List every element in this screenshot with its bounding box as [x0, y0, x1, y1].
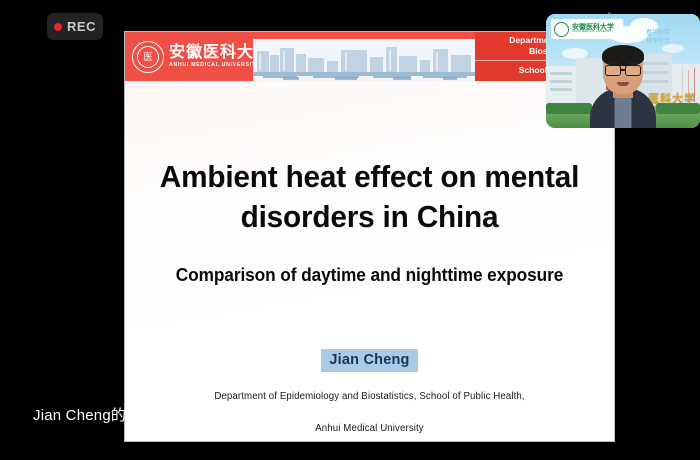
participant-name-overlay: Jian Cheng的: [33, 404, 126, 425]
author-name: Jian Cheng: [321, 349, 417, 372]
recording-label: REC: [67, 20, 96, 33]
seal-character: 医: [137, 46, 159, 68]
recording-badge[interactable]: REC: [47, 13, 103, 40]
building-window: [550, 72, 572, 75]
background-seal-icon: [554, 22, 569, 37]
presenter-video-tile[interactable]: 安徽医科大学 ANHUI MEDICAL UNIVERSITY 春华秋实 桃李芬…: [546, 14, 700, 128]
presenter-head: [603, 45, 643, 94]
slide-subtitle: Comparison of daytime and nighttime expo…: [135, 265, 604, 286]
building-window: [550, 80, 572, 83]
glasses-icon: [605, 65, 621, 76]
university-seal-icon: 医: [132, 41, 164, 73]
slide-title-line-2: disorders in China: [135, 197, 604, 237]
slide-banner: 医 安徽医科大学 ANHUI MEDICAL UNIVERSITY: [125, 32, 614, 81]
presenter-figure: [590, 42, 656, 128]
skyline-illustration: [253, 41, 475, 81]
building-window: [550, 88, 572, 91]
presenter-eyebrow: [627, 62, 638, 64]
affiliation-line-2: Anhui Medical University: [132, 423, 606, 434]
participant-name-suffix: 的: [111, 406, 126, 424]
presenter-mouth: [617, 82, 629, 86]
background-university-logo: 安徽医科大学 ANHUI MEDICAL UNIVERSITY: [551, 19, 623, 39]
university-brand-block: 医 安徽医科大学 ANHUI MEDICAL UNIVERSITY: [125, 32, 253, 81]
zoom-meeting-screen: REC 医 安徽医科大学 ANHUI MEDICAL UNIVERSITY: [0, 0, 700, 460]
slide-body: Ambient heat effect on mental disorders …: [125, 81, 614, 441]
background-logo-en: ANHUI MEDICAL UNIVERSITY: [572, 31, 614, 34]
background-logo-text: 安徽医科大学 ANHUI MEDICAL UNIVERSITY: [572, 24, 614, 34]
presenter-eyebrow: [608, 62, 619, 64]
background-hedge: [546, 103, 592, 114]
presenter-shirt: [615, 96, 632, 128]
campus-skyline-image: [253, 32, 475, 81]
glasses-icon: [625, 65, 641, 76]
shared-slide: 医 安徽医科大学 ANHUI MEDICAL UNIVERSITY: [125, 32, 614, 441]
recording-dot-icon: [54, 23, 62, 31]
slide-title-line-1: Ambient heat effect on mental: [135, 157, 604, 197]
participant-name: Jian Cheng: [33, 407, 111, 424]
affiliation-line-1: Department of Epidemiology and Biostatis…: [132, 391, 606, 402]
author-row: Jian Cheng: [125, 349, 614, 372]
glasses-bridge: [620, 69, 626, 71]
slide-title: Ambient heat effect on mental disorders …: [135, 157, 604, 236]
